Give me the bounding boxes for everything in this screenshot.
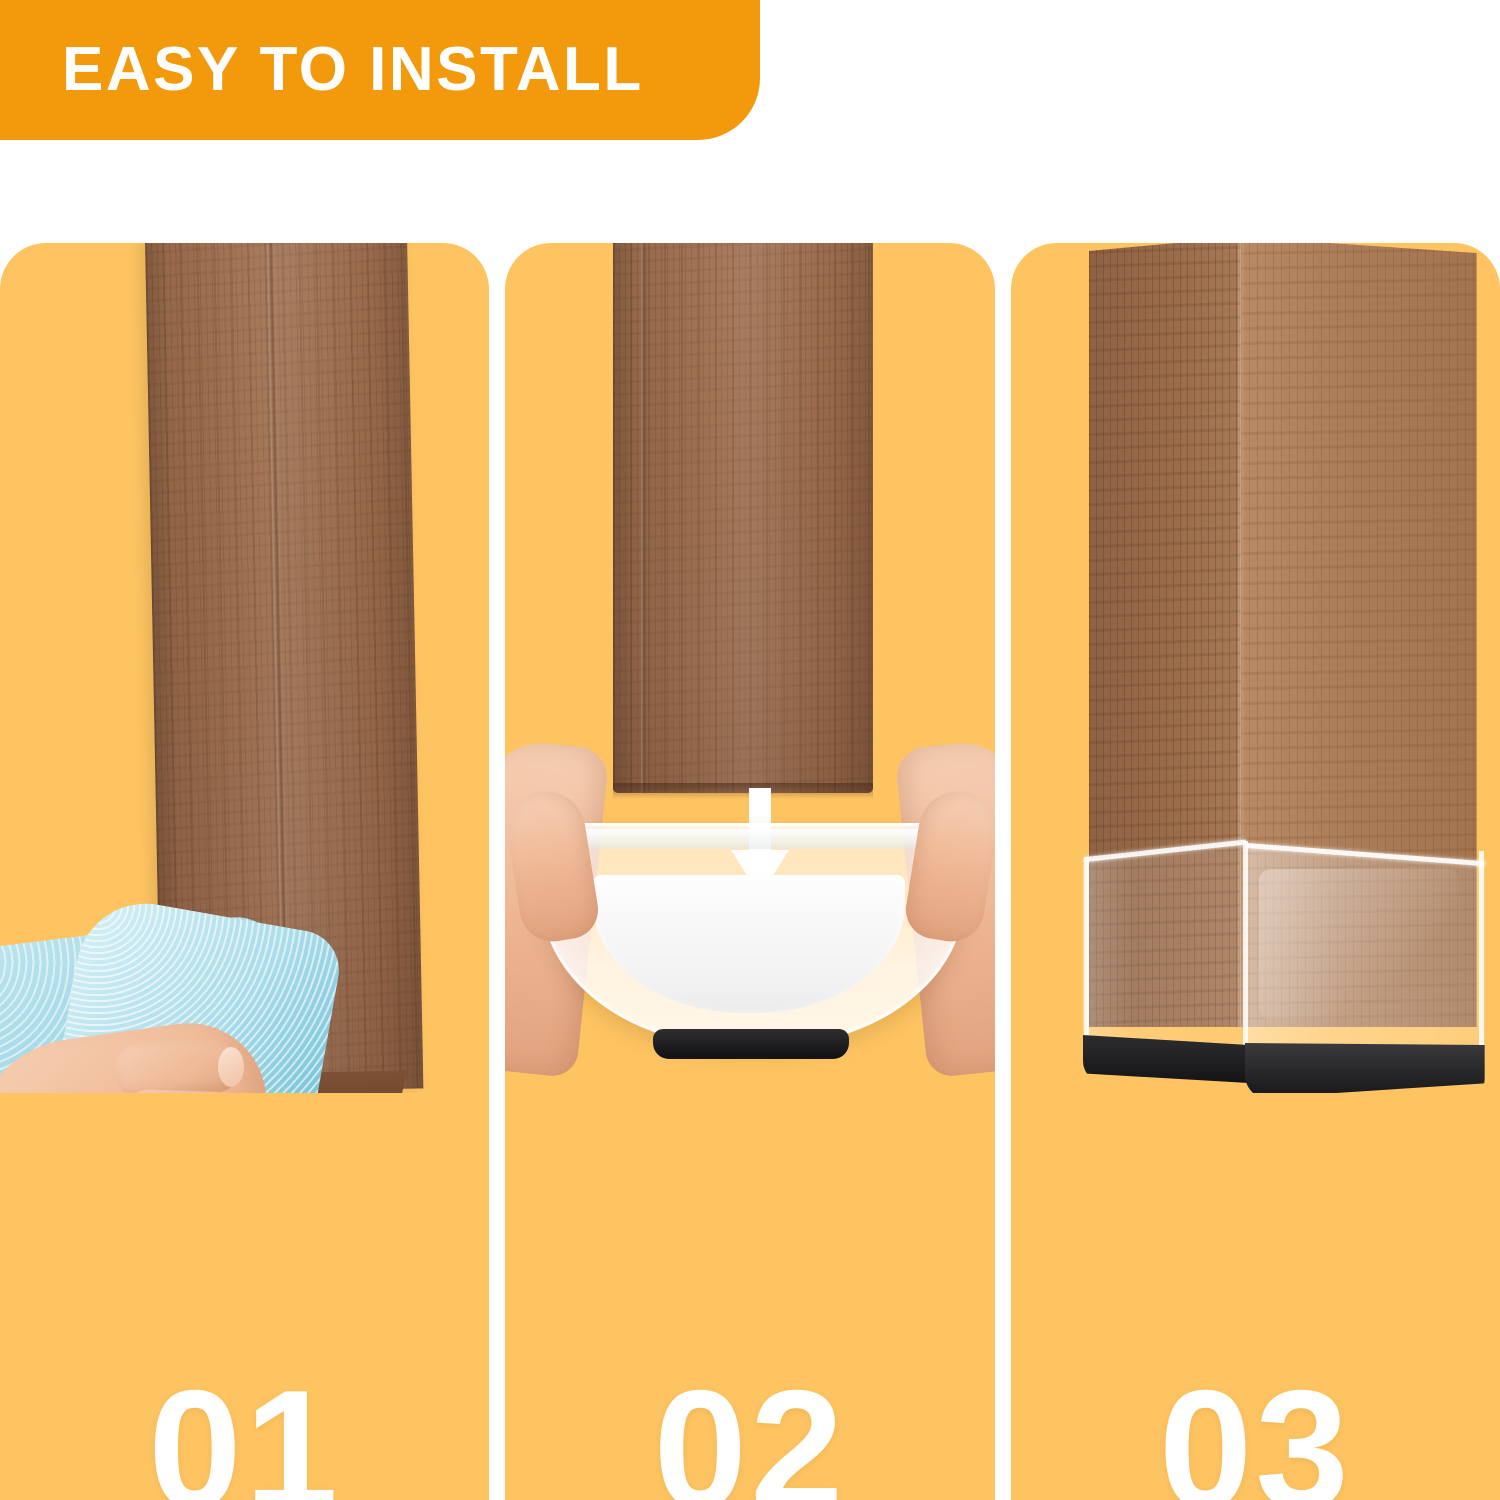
step-02-illustration (505, 243, 994, 1093)
header-banner: EASY TO INSTALL (0, 0, 760, 140)
protector-edge-center (1243, 841, 1248, 1067)
step-panel-03: 03 Finish (1011, 243, 1500, 1500)
install-steps-row: 01 Clean the surface of the furniture fe… (0, 243, 1500, 1500)
step-03-illustration (1011, 243, 1500, 1093)
step-number: 03 (1011, 1365, 1500, 1500)
step-number: 02 (505, 1365, 994, 1500)
step-03-text: 03 Finish (1011, 1093, 1500, 1500)
protector-rim (547, 829, 953, 849)
clear-leg-protector-cup (541, 783, 959, 1083)
step-02-text: 02 Insert the furniture legs into it (505, 1093, 994, 1500)
wood-seam (641, 243, 648, 793)
protector-edge-right (1479, 851, 1484, 1061)
step-panel-01: 01 Clean the surface of the furniture fe… (0, 243, 489, 1500)
installed-leg-protector (1083, 829, 1483, 1093)
furniture-leg-wood (613, 243, 873, 793)
felt-pad-right (1245, 1043, 1485, 1093)
protector-gloss-highlight (1259, 869, 1459, 1019)
page-title: EASY TO INSTALL (62, 39, 644, 101)
fingernail (218, 1047, 244, 1087)
cleaning-hand-group (0, 913, 386, 1093)
protector-edge-left (1084, 857, 1089, 1065)
step-number: 01 (0, 1365, 489, 1500)
furniture-leg-3d (1089, 243, 1500, 1093)
step-01-illustration (0, 243, 489, 1093)
step-01-text: 01 Clean the surface of the furniture fe… (0, 1093, 489, 1500)
felt-pad (653, 1029, 849, 1059)
protector-face-left (1083, 843, 1247, 1059)
step-panel-02: 02 Insert the furniture legs into it (505, 243, 994, 1500)
